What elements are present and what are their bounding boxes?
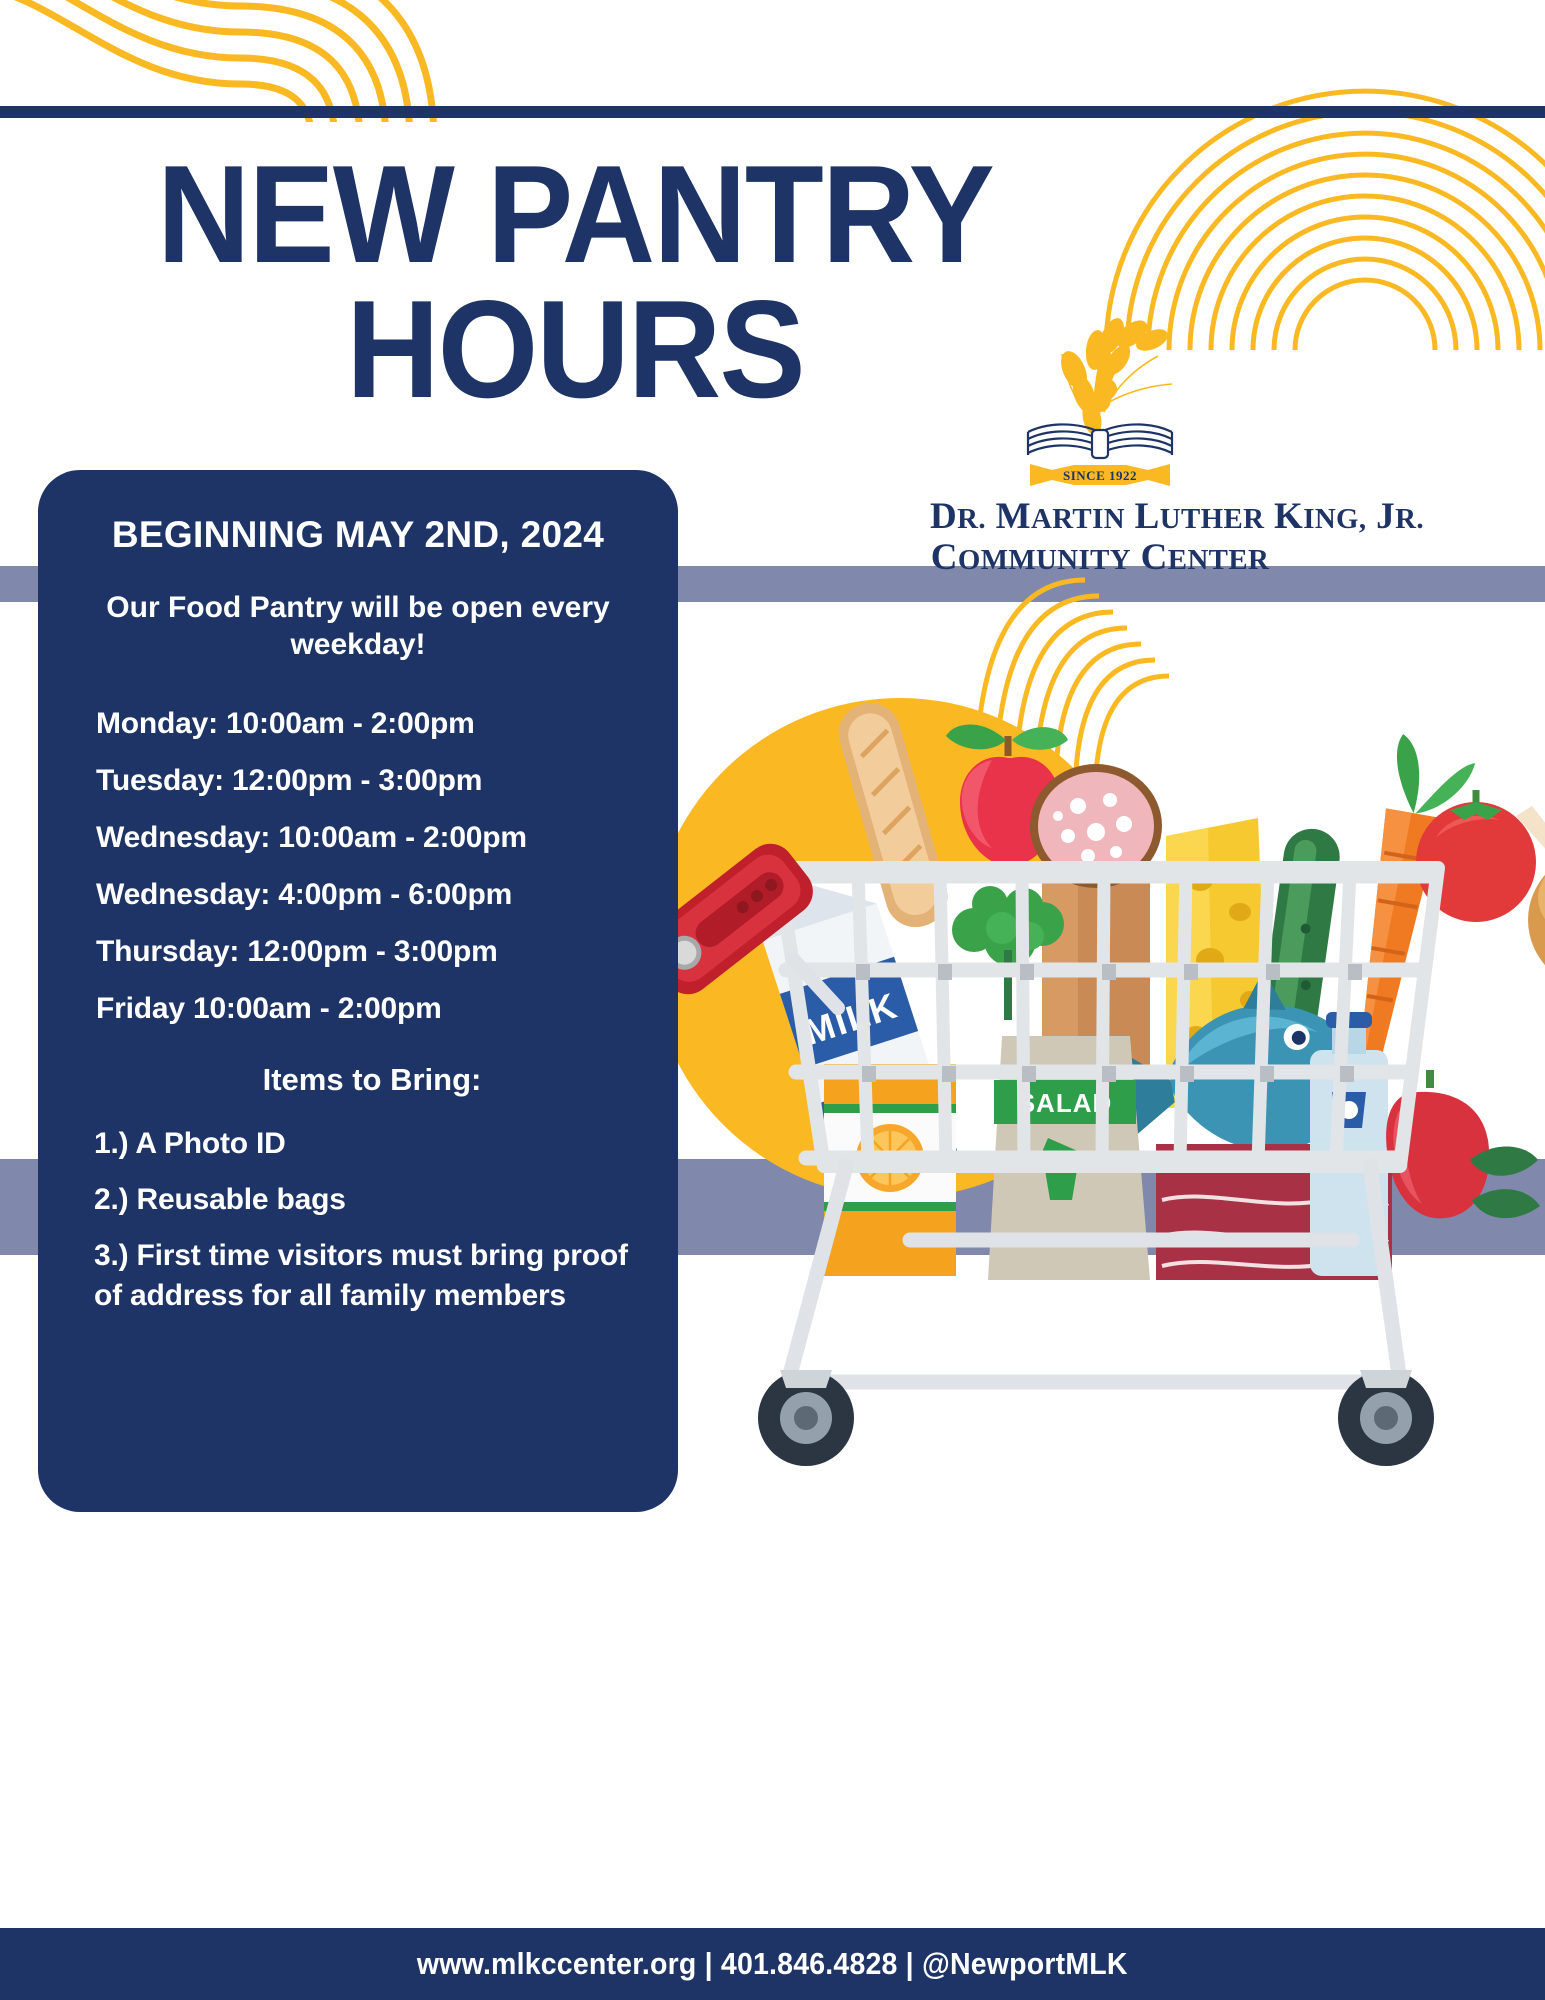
hours-row: Monday: 10:00am - 2:00pm [96,709,650,739]
logo-name-line-2: COMMUNITY CENTER [930,538,1270,577]
shopping-cart-illustration: MILK SALAD [610,640,1545,1500]
footer-contact-bar: www.mlkccenter.org | 401.846.4828 | @New… [0,1928,1545,2000]
card-heading: BEGINNING MAY 2ND, 2024 [66,514,650,556]
hours-row: Wednesday: 4:00pm - 6:00pm [96,880,650,910]
hours-list: Monday: 10:00am - 2:00pm Tuesday: 12:00p… [66,709,650,1024]
hours-row: Wednesday: 10:00am - 2:00pm [96,823,650,853]
wavy-lines-decoration-topleft [0,0,460,122]
svg-text:SINCE 1922: SINCE 1922 [1063,468,1137,483]
title-line-1: NEW PANTRY [40,148,1110,283]
card-subheading: Our Food Pantry will be open every weekd… [66,590,650,663]
hours-row: Thursday: 12:00pm - 3:00pm [96,937,650,967]
top-navy-rule [0,106,1545,118]
bring-item: 2.) Reusable bags [94,1180,650,1220]
items-to-bring-list: 1.) A Photo ID 2.) Reusable bags 3.) Fir… [66,1124,650,1316]
hours-row: Friday 10:00am - 2:00pm [96,994,650,1024]
wheat-book-logo-icon: SINCE 1922 [1000,300,1200,495]
organization-logo: SINCE 1922 DR. MARTIN LUTHER KING, JR. C… [930,300,1270,577]
hours-row: Tuesday: 12:00pm - 3:00pm [96,766,650,796]
bring-item: 1.) A Photo ID [94,1124,650,1164]
footer-contact-text: www.mlkccenter.org | 401.846.4828 | @New… [417,1946,1128,1982]
logo-name-line-1: DR. MARTIN LUTHER KING, JR. [930,497,1270,536]
items-to-bring-title: Items to Bring: [66,1062,650,1098]
pantry-hours-card: BEGINNING MAY 2ND, 2024 Our Food Pantry … [38,470,678,1512]
flyer-canvas: NEW PANTRY HOURS [0,0,1545,2000]
bring-item: 3.) First time visitors must bring proof… [94,1236,650,1316]
